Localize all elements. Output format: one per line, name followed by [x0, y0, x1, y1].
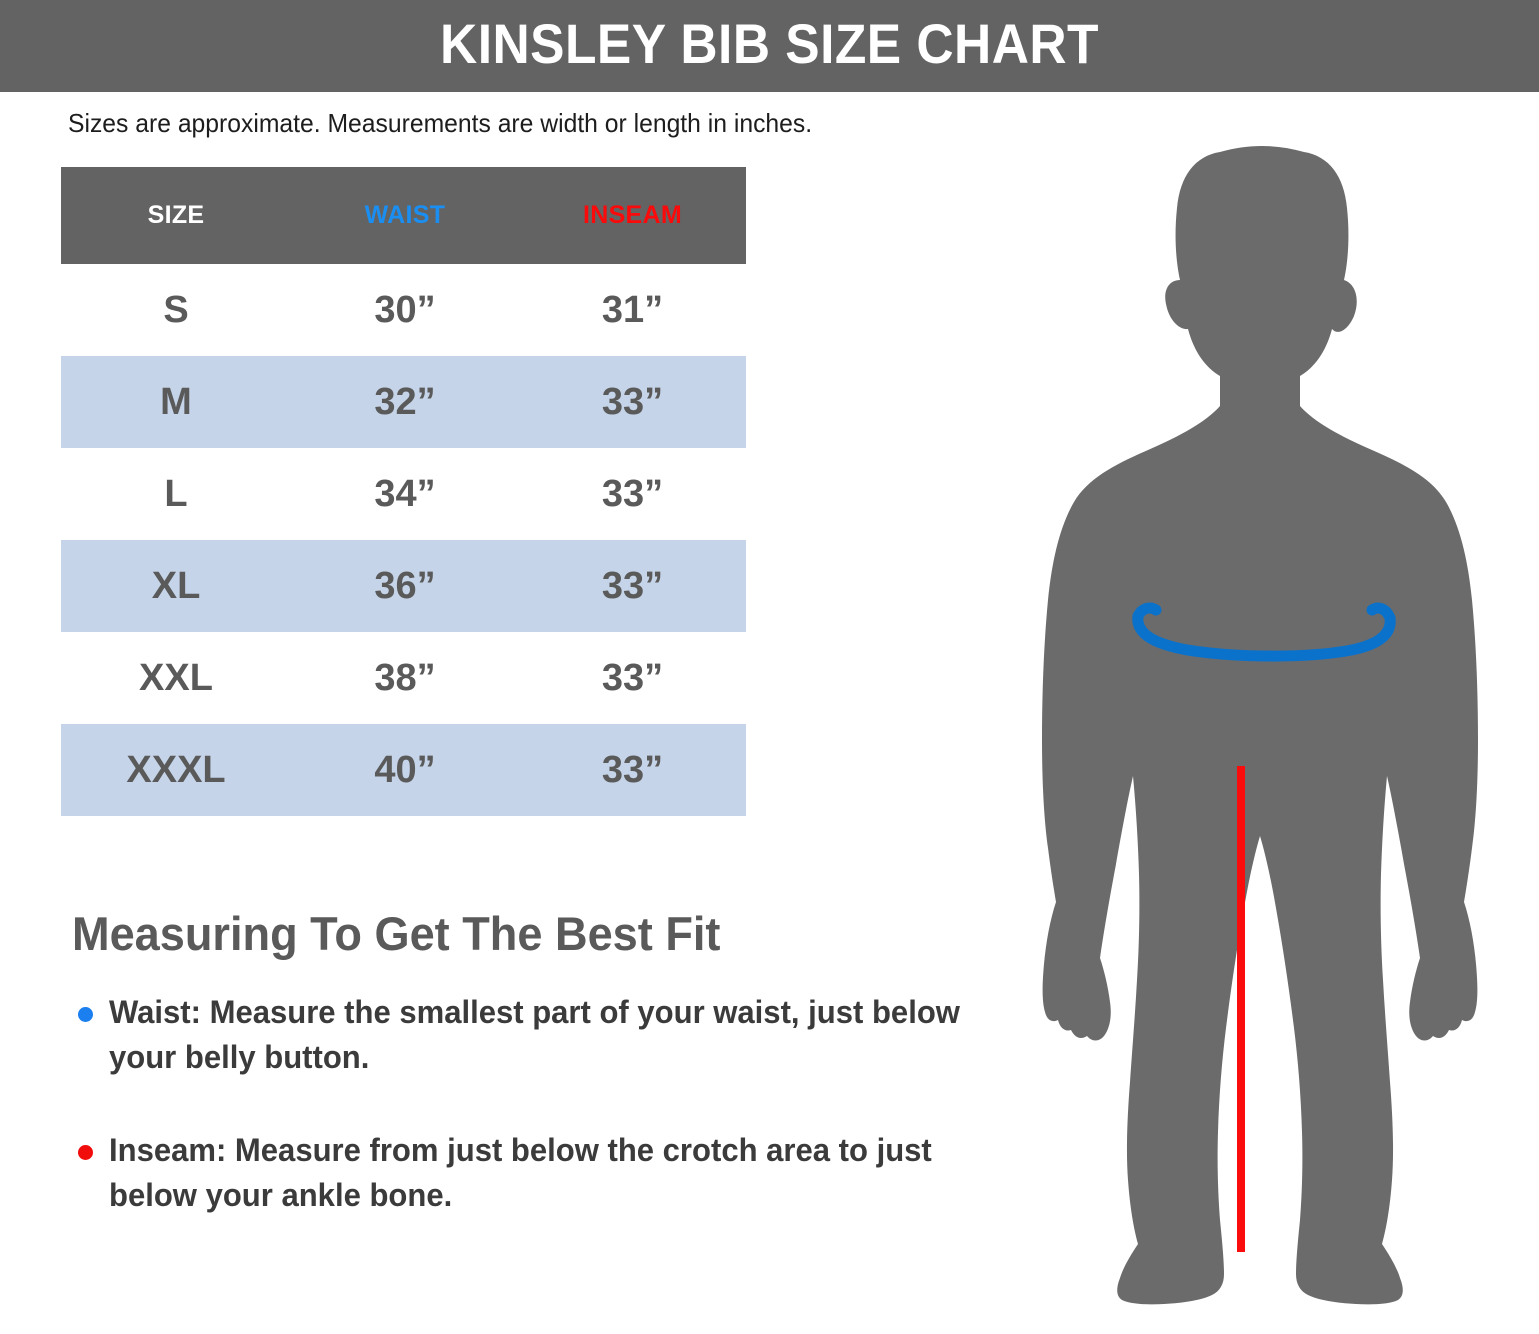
cell-size: L [61, 448, 291, 540]
cell-waist: 38” [291, 632, 519, 724]
table-row: XL 36” 33” [61, 540, 746, 632]
tip-inseam: Inseam: Measure from just below the crot… [78, 1128, 1038, 1219]
cell-size: M [61, 356, 291, 448]
cell-size: S [61, 264, 291, 356]
size-chart-table: SIZE WAIST INSEAM S 30” 31” M 32” 33” L … [61, 167, 746, 816]
cell-inseam: 33” [519, 356, 746, 448]
cell-waist: 36” [291, 540, 519, 632]
cell-waist: 32” [291, 356, 519, 448]
table-header-row: SIZE WAIST INSEAM [61, 167, 746, 264]
page-title: KINSLEY BIB SIZE CHART [62, 0, 1478, 92]
table-row: L 34” 33” [61, 448, 746, 540]
cell-inseam: 33” [519, 724, 746, 816]
bullet-icon-inseam [78, 1145, 93, 1160]
cell-inseam: 31” [519, 264, 746, 356]
cell-size: XXL [61, 632, 291, 724]
subtitle-note: Sizes are approximate. Measurements are … [68, 108, 812, 139]
male-body-silhouette [1042, 146, 1478, 1304]
bullet-icon-waist [78, 1007, 93, 1022]
cell-waist: 40” [291, 724, 519, 816]
cell-size: XXXL [61, 724, 291, 816]
cell-waist: 30” [291, 264, 519, 356]
measuring-heading: Measuring To Get The Best Fit [72, 906, 720, 961]
table-body: S 30” 31” M 32” 33” L 34” 33” XL 36” 33”… [61, 264, 746, 816]
column-header-inseam: INSEAM [519, 167, 746, 264]
tip-waist-text: Waist: Measure the smallest part of your… [109, 990, 1010, 1081]
cell-size: XL [61, 540, 291, 632]
column-header-size: SIZE [61, 167, 291, 264]
table-row: XXL 38” 33” [61, 632, 746, 724]
body-figure-illustration [1020, 130, 1520, 1310]
cell-inseam: 33” [519, 632, 746, 724]
table-header: SIZE WAIST INSEAM [61, 167, 746, 264]
tip-waist: Waist: Measure the smallest part of your… [78, 990, 1038, 1081]
table-row: S 30” 31” [61, 264, 746, 356]
column-header-waist: WAIST [291, 167, 519, 264]
table-row: XXXL 40” 33” [61, 724, 746, 816]
cell-inseam: 33” [519, 540, 746, 632]
cell-inseam: 33” [519, 448, 746, 540]
cell-waist: 34” [291, 448, 519, 540]
tip-inseam-text: Inseam: Measure from just below the crot… [109, 1128, 1010, 1219]
title-bar: KINSLEY BIB SIZE CHART [0, 0, 1539, 92]
table-row: M 32” 33” [61, 356, 746, 448]
